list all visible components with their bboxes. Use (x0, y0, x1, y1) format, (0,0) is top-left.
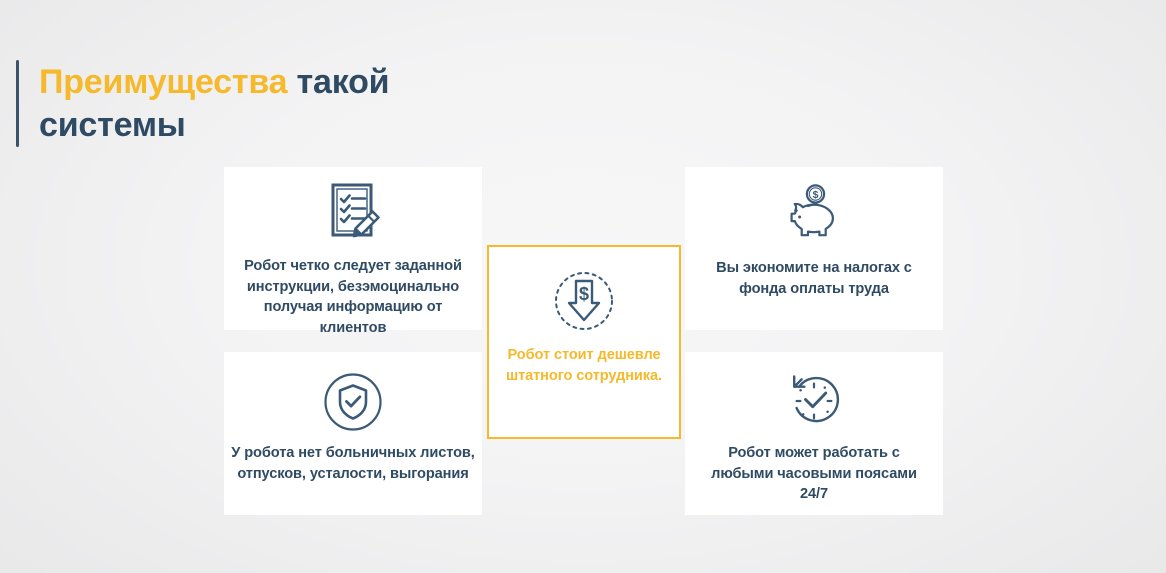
card-no-sick-leave[interactable]: У робота нет больничных листов, отпусков… (224, 352, 482, 515)
card-tax-savings[interactable]: $ Вы экономите на налогах с фонда оплаты… (685, 167, 943, 330)
clock-check-icon (783, 370, 845, 437)
card-instruction[interactable]: Робот четко следует заданной инструкции,… (224, 167, 482, 330)
card-timezones[interactable]: Робот может работать с любыми часовыми п… (685, 352, 943, 515)
checklist-pencil-icon (320, 179, 386, 250)
card-tax-savings-text: Вы экономите на налогах с фонда оплаты т… (685, 258, 943, 299)
slide-root: Преимущества такой системы Робот четко с… (0, 0, 1166, 573)
title-text: Преимущества такой системы (39, 60, 389, 147)
title-accent-bar (16, 60, 19, 147)
card-instruction-text: Робот четко следует заданной инструкции,… (224, 256, 482, 339)
shield-check-icon (323, 372, 383, 437)
dollar-down-arrow-icon: $ (553, 270, 615, 337)
title-accent-word: Преимущества (39, 63, 287, 101)
card-timezones-text: Робот может работать с любыми часовыми п… (685, 443, 943, 505)
svg-text:$: $ (579, 284, 589, 304)
page-title: Преимущества такой системы (16, 60, 389, 147)
svg-text:$: $ (813, 189, 819, 201)
piggy-bank-icon: $ (781, 181, 847, 252)
card-cheaper-text: Робот стоит дешевле штатного сотрудника. (489, 345, 679, 387)
card-cheaper-highlighted[interactable]: $ Робот стоит дешевле штатного сотрудник… (487, 245, 681, 439)
card-no-sick-leave-text: У робота нет больничных листов, отпусков… (224, 443, 482, 484)
